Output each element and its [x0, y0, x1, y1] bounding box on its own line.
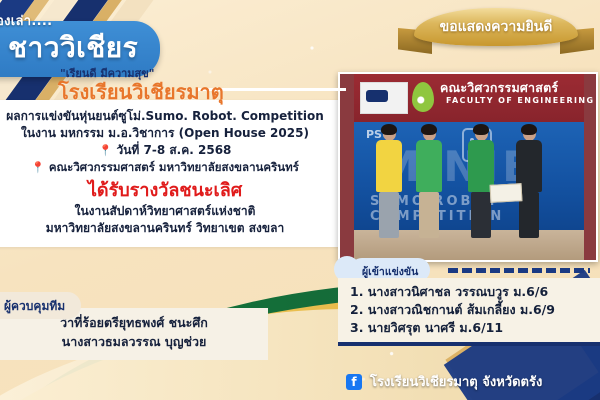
- coaches-label: ผู้ควบคุมทีม: [4, 299, 65, 313]
- competitors-dash-rule: [448, 268, 590, 273]
- coaches-label-pill: ผู้ควบคุมทีม: [0, 292, 81, 319]
- announcement-line-4: 📍 คณะวิศวกรรมศาสตร์ มหาวิทยาลัยสงขลานคริ…: [0, 159, 330, 176]
- water-drop-icon: [412, 82, 434, 112]
- announcement-line-3: 📍 วันที่ 7-8 ส.ค. 2568: [0, 142, 330, 159]
- award-ceremony-photo: คณะวิศวกรรมศาสตร์ FACULTY OF ENGINEERING…: [338, 72, 598, 262]
- announcement-line-6: มหาวิทยาลัยสงขลานครินทร์ วิทยาเขต สงขลา: [0, 220, 330, 237]
- announcement-card: ผลการแข่งขันหุ่นยนต์ซูโม่.Sumo. Robot. C…: [0, 100, 340, 247]
- photo-faculty-en: FACULTY OF ENGINEERING: [446, 96, 595, 105]
- location-pin-icon: 📍: [99, 144, 113, 157]
- photo-faculty-sign: คณะวิศวกรรมศาสตร์ FACULTY OF ENGINEERING: [354, 74, 584, 122]
- announcement-line-5: ในงานสัปดาห์วิทยาศาสตร์แห่งชาติ: [0, 203, 330, 220]
- photo-person: [516, 126, 542, 238]
- certificate-prop: [490, 183, 523, 203]
- photo-person: [376, 126, 402, 238]
- ribbon-label: ขอแสดงความยินดี: [440, 16, 553, 38]
- competitor-item: 1. นางสาวนิศาชล วรรณบวูร ม.6/6: [350, 283, 600, 301]
- photo-person: [468, 126, 494, 238]
- announcement-line-2: ในงาน มหกรรม ม.อ.วิชาการ (Open House 202…: [0, 125, 330, 142]
- school-name: โรงเรียนวิเชียรมาตุ: [58, 76, 224, 108]
- page-title: ชาววิเชียร: [8, 31, 138, 64]
- footer-page-name: โรงเรียนวิเชียรมาตุ จังหวัดตรัง: [370, 371, 542, 392]
- event-date: วันที่ 7-8 ส.ค. 2568: [116, 143, 231, 157]
- photo-faculty-th: คณะวิศวกรรมศาสตร์: [440, 78, 558, 98]
- congratulations-ribbon: ขอแสดงความยินดี: [398, 6, 594, 60]
- competitors-card: 1. นางสาวนิศาชล วรรณบวูร ม.6/6 2. นางสาว…: [338, 278, 600, 346]
- award-headline: ได้รับรางวัลชนะเลิศ: [0, 178, 330, 203]
- photo-person: [416, 126, 442, 238]
- coach-name: นางสาวธมลวรรณ บุญช่วย: [10, 333, 258, 352]
- event-venue: คณะวิศวกรรมศาสตร์ มหาวิทยาลัยสงขลานครินท…: [49, 160, 299, 174]
- competitor-item: 2. นางสาวณิชกานต์ ส้มเกลี้ยง ม.6/9: [350, 301, 600, 319]
- facebook-icon[interactable]: f: [346, 374, 362, 390]
- poster-canvas: เรื่องเล่า.... ชาววิเชียร "เรียนดี มีควา…: [0, 0, 600, 400]
- competitor-item: 3. นายวิศรุต นาศรี ม.6/11: [350, 319, 600, 337]
- psu-logo-icon: [360, 82, 408, 114]
- header-kicker: เรื่องเล่า....: [0, 10, 52, 31]
- location-pin-icon-2: 📍: [31, 161, 45, 174]
- competitors-label: ผู้เข้าแข่งขัน: [362, 266, 418, 278]
- announcement-line-1: ผลการแข่งขันหุ่นยนต์ซูโม่.Sumo. Robot. C…: [0, 108, 330, 125]
- footer-credit: f โรงเรียนวิเชียรมาตุ จังหวัดตรัง: [346, 371, 542, 392]
- ribbon-band: ขอแสดงความยินดี: [414, 8, 578, 46]
